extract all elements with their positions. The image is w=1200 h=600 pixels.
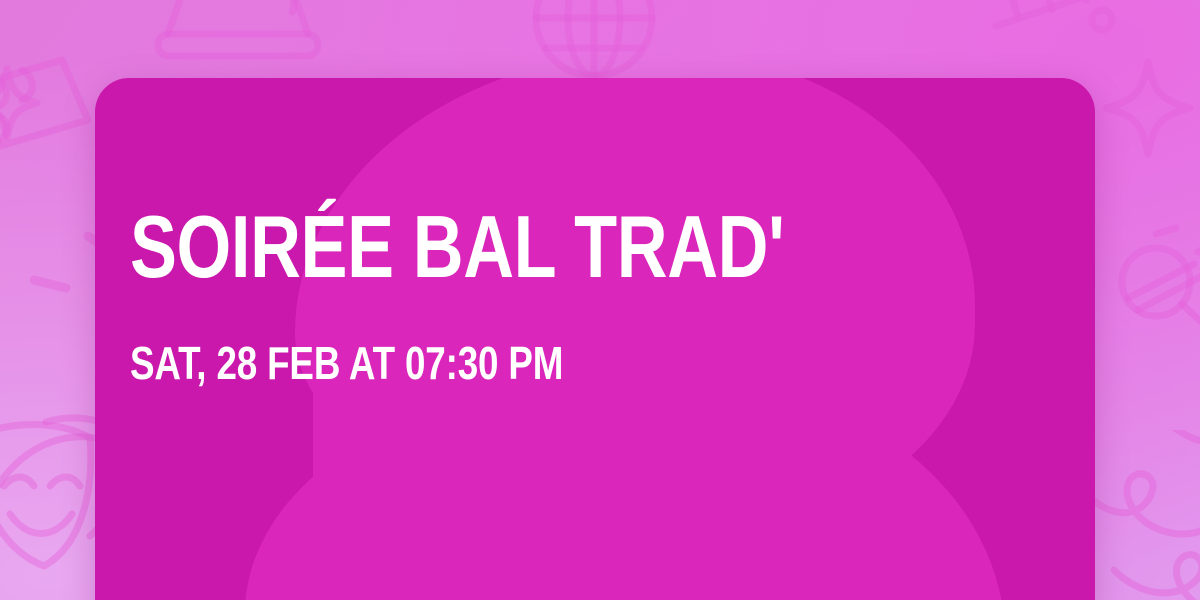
event-datetime: SAT, 28 FEB AT 07:30 PM: [130, 340, 563, 386]
card-blob-bottom: [245, 378, 1005, 600]
ticket-icon: [0, 48, 96, 158]
banner-icon: [982, 0, 1142, 72]
streamer-swirl-icon: [0, 408, 100, 498]
event-title: SOIRÉE BAL TRAD': [130, 203, 784, 291]
sparkle-icon: [1100, 56, 1196, 160]
card-blob-top: [295, 78, 975, 532]
globe-icon: [528, 0, 660, 84]
event-card[interactable]: SOIRÉE BAL TRAD' SAT, 28 FEB AT 07:30 PM: [95, 78, 1095, 600]
microphone-icon: [1098, 222, 1200, 372]
event-banner: SOIRÉE BAL TRAD' SAT, 28 FEB AT 07:30 PM: [0, 0, 1200, 600]
sparkle-icon: [0, 64, 42, 142]
party-popper-icon: [148, 0, 328, 88]
